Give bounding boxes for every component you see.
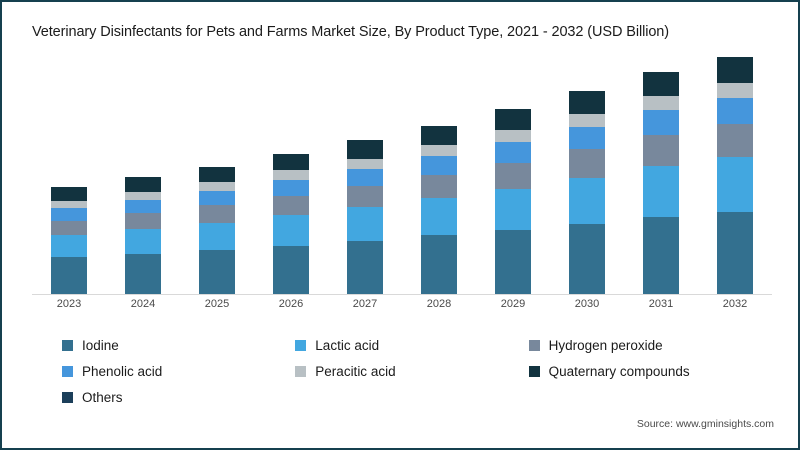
bar-segment[interactable] xyxy=(273,180,309,196)
bar-group[interactable] xyxy=(273,57,309,294)
bar-group[interactable] xyxy=(569,57,605,294)
bar-segment[interactable] xyxy=(643,135,679,166)
bar-group[interactable] xyxy=(125,57,161,294)
legend-item-label: Lactic acid xyxy=(315,338,379,353)
bar-segment[interactable] xyxy=(569,127,605,150)
bar-segment[interactable] xyxy=(273,196,309,215)
bar-segment[interactable] xyxy=(51,221,87,236)
legend-swatch-icon xyxy=(529,340,540,351)
bar-segment[interactable] xyxy=(347,159,383,169)
bar-segment[interactable] xyxy=(495,230,531,294)
bar-segment[interactable] xyxy=(347,169,383,186)
bar-segment[interactable] xyxy=(199,167,235,183)
bar-segment[interactable] xyxy=(643,96,679,110)
bar-segment[interactable] xyxy=(199,182,235,190)
x-axis-tick-label: 2028 xyxy=(421,298,457,318)
legend-item-label: Hydrogen peroxide xyxy=(549,338,663,353)
legend-swatch-icon xyxy=(62,366,73,377)
bar-segment[interactable] xyxy=(569,224,605,294)
x-axis-tick-label: 2023 xyxy=(51,298,87,318)
legend-item-label: Iodine xyxy=(82,338,119,353)
legend-swatch-icon xyxy=(62,340,73,351)
bar-segment[interactable] xyxy=(51,187,87,201)
bar-segment[interactable] xyxy=(569,149,605,177)
bar-segment[interactable] xyxy=(273,215,309,245)
bar-segment[interactable] xyxy=(495,142,531,163)
bar-segment[interactable] xyxy=(199,205,235,222)
legend-item[interactable]: Lactic acid xyxy=(295,332,528,358)
bar-segment[interactable] xyxy=(421,198,457,236)
x-axis-tick-label: 2032 xyxy=(717,298,753,318)
x-axis-tick-label: 2031 xyxy=(643,298,679,318)
x-axis-tick-label: 2029 xyxy=(495,298,531,318)
bar-segment[interactable] xyxy=(51,208,87,221)
legend-item[interactable]: Hydrogen peroxide xyxy=(529,332,762,358)
plot-area xyxy=(32,57,772,295)
x-axis-line xyxy=(32,294,772,295)
bar-segment[interactable] xyxy=(347,186,383,207)
legend-swatch-icon xyxy=(295,340,306,351)
x-axis-tick-label: 2027 xyxy=(347,298,383,318)
bar-segment[interactable] xyxy=(199,191,235,206)
bar-segment[interactable] xyxy=(569,91,605,114)
bar-segment[interactable] xyxy=(421,156,457,175)
x-axis-tick-label: 2024 xyxy=(125,298,161,318)
bar-segment[interactable] xyxy=(125,254,161,294)
bar-group[interactable] xyxy=(717,57,753,294)
bar-group[interactable] xyxy=(495,57,531,294)
legend-item-label: Peracitic acid xyxy=(315,364,395,379)
bar-segment[interactable] xyxy=(347,241,383,294)
legend-swatch-icon xyxy=(295,366,306,377)
bar-segment[interactable] xyxy=(495,163,531,189)
bar-segment[interactable] xyxy=(51,257,87,294)
bar-segment[interactable] xyxy=(643,72,679,97)
legend-item[interactable]: Iodine xyxy=(62,332,295,358)
legend-item[interactable]: Peracitic acid xyxy=(295,358,528,384)
bar-segment[interactable] xyxy=(421,126,457,145)
x-axis-tick-label: 2026 xyxy=(273,298,309,318)
bar-segment[interactable] xyxy=(717,83,753,98)
legend-item-label: Quaternary compounds xyxy=(549,364,690,379)
bar-segment[interactable] xyxy=(717,124,753,157)
x-axis-tick-label: 2030 xyxy=(569,298,605,318)
bar-segment[interactable] xyxy=(421,175,457,198)
bar-segment[interactable] xyxy=(717,98,753,125)
x-axis-tick-label: 2025 xyxy=(199,298,235,318)
bar-segment[interactable] xyxy=(495,130,531,142)
legend-item-label: Others xyxy=(82,390,123,405)
bar-group[interactable] xyxy=(421,57,457,294)
chart-title: Veterinary Disinfectants for Pets and Fa… xyxy=(32,24,669,40)
x-axis-tick-labels: 2023202420252026202720282029203020312032 xyxy=(32,298,772,318)
bar-segment[interactable] xyxy=(125,177,161,192)
bar-segment[interactable] xyxy=(125,200,161,214)
bar-segment[interactable] xyxy=(273,170,309,179)
bar-segment[interactable] xyxy=(643,110,679,135)
bar-segment[interactable] xyxy=(347,140,383,158)
bar-segment[interactable] xyxy=(51,201,87,208)
bar-segment[interactable] xyxy=(421,145,457,156)
bar-series-group xyxy=(32,57,772,294)
bar-segment[interactable] xyxy=(273,154,309,170)
bar-segment[interactable] xyxy=(495,189,531,230)
bar-segment[interactable] xyxy=(421,235,457,294)
bar-segment[interactable] xyxy=(569,114,605,127)
legend-item[interactable]: Phenolic acid xyxy=(62,358,295,384)
bar-group[interactable] xyxy=(199,57,235,294)
bar-segment[interactable] xyxy=(125,192,161,200)
bar-segment[interactable] xyxy=(273,246,309,295)
bar-segment[interactable] xyxy=(199,223,235,250)
bar-group[interactable] xyxy=(643,57,679,294)
bar-segment[interactable] xyxy=(717,57,753,83)
source-label: Source: www.gminsights.com xyxy=(637,418,774,430)
legend-swatch-icon xyxy=(62,392,73,403)
bar-segment[interactable] xyxy=(125,213,161,229)
bar-segment[interactable] xyxy=(569,178,605,224)
bar-segment[interactable] xyxy=(643,166,679,217)
bar-segment[interactable] xyxy=(347,207,383,241)
bar-segment[interactable] xyxy=(125,229,161,254)
bar-segment[interactable] xyxy=(643,217,679,294)
legend-item[interactable]: Quaternary compounds xyxy=(529,358,762,384)
chart-container: Veterinary Disinfectants for Pets and Fa… xyxy=(0,0,800,450)
bar-group[interactable] xyxy=(51,57,87,294)
bar-segment[interactable] xyxy=(495,109,531,130)
legend-item-label: Phenolic acid xyxy=(82,364,162,379)
bar-segment[interactable] xyxy=(51,235,87,257)
legend-item[interactable]: Others xyxy=(62,384,295,410)
bar-segment[interactable] xyxy=(717,212,753,294)
chart-legend: IodineLactic acidHydrogen peroxidePhenol… xyxy=(62,332,762,410)
bar-segment[interactable] xyxy=(199,250,235,294)
bar-group[interactable] xyxy=(347,57,383,294)
legend-swatch-icon xyxy=(529,366,540,377)
bar-segment[interactable] xyxy=(717,157,753,212)
